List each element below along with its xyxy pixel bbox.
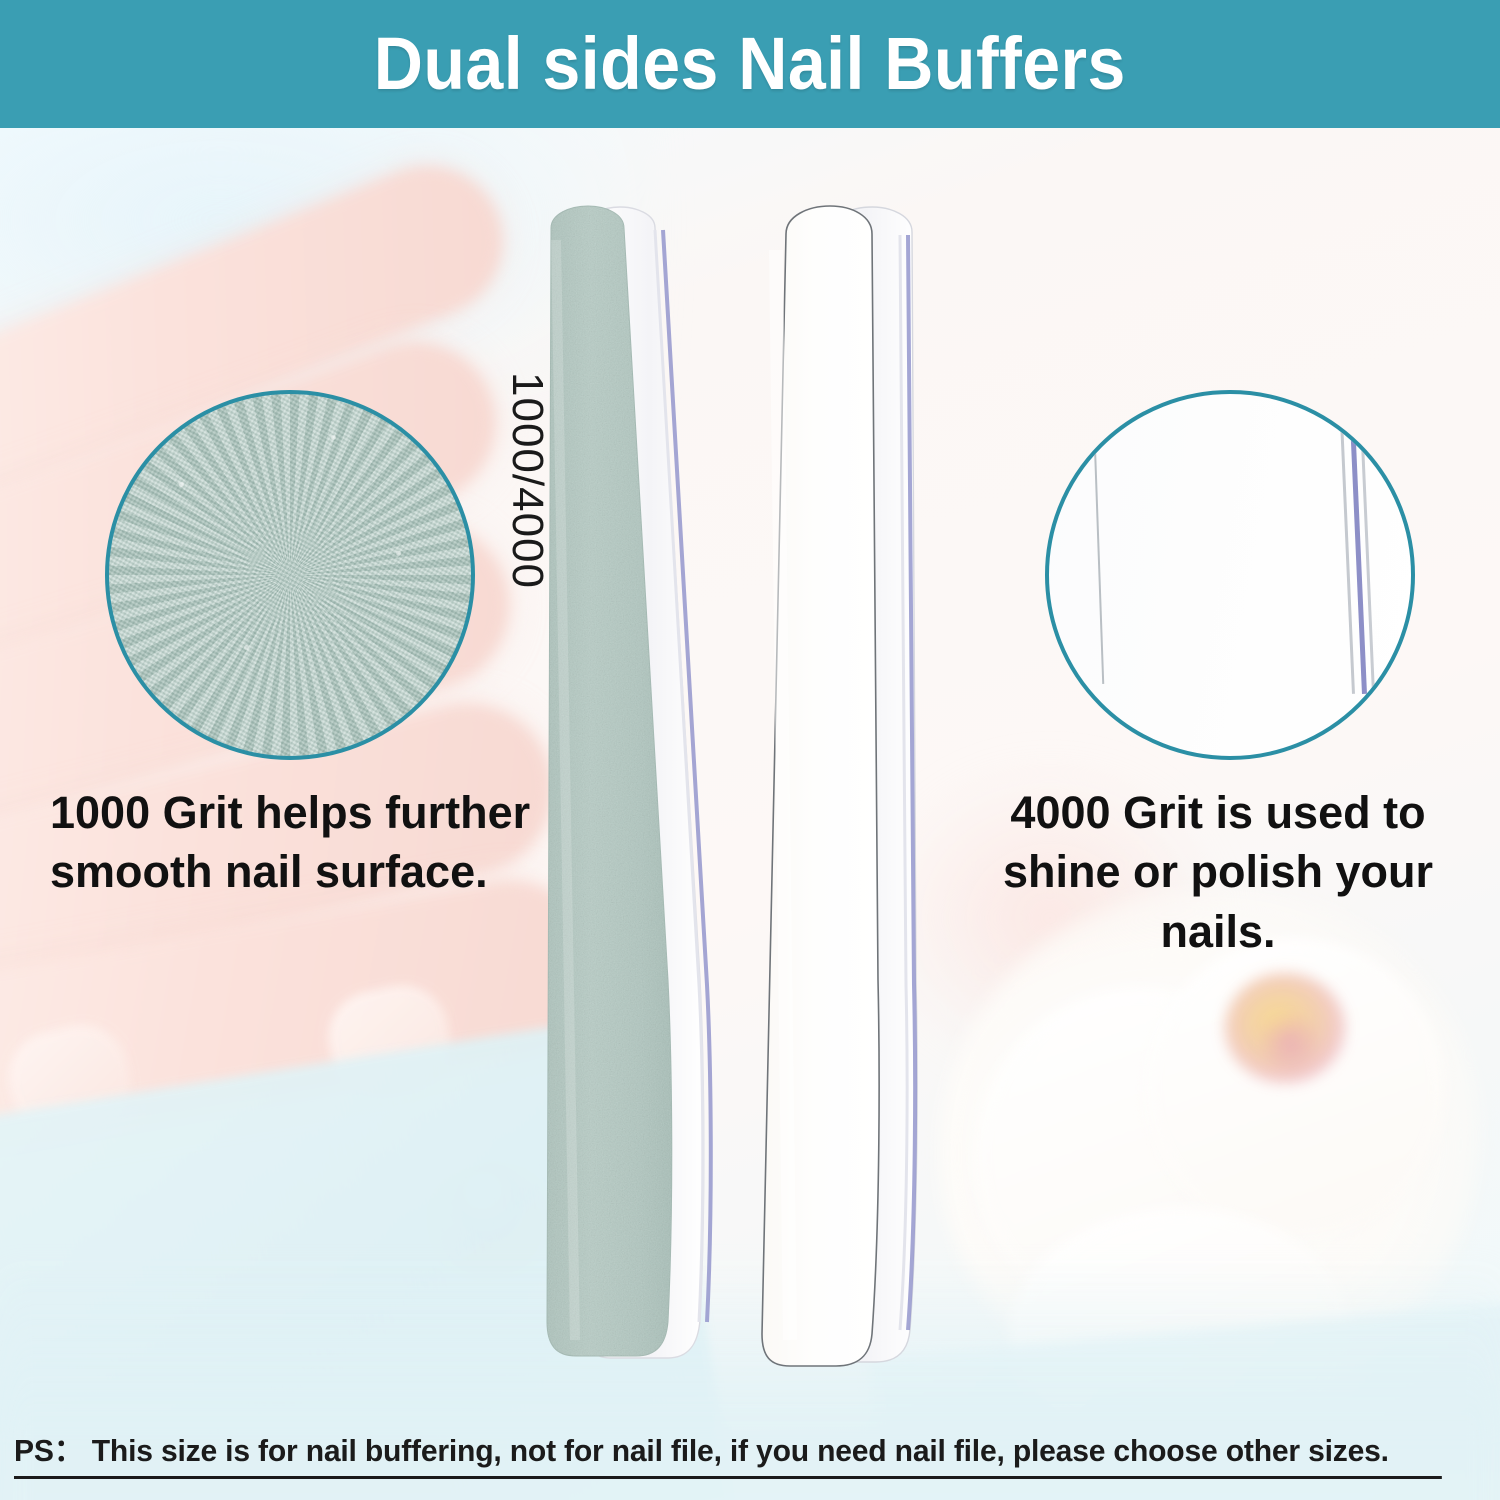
footer-note-bar: PS： This size is for nail buffering, not… xyxy=(0,1432,1500,1479)
infographic-canvas: 1000/4000 1000 Grit helps further smooth… xyxy=(0,0,1500,1500)
footer-note-text: PS： This size is for nail buffering, not… xyxy=(14,1432,1442,1479)
buffer-grit-label: 1000/4000 xyxy=(502,372,552,589)
orchid-center-accent xyxy=(1255,1008,1325,1078)
caption-4000-grit: 4000 Grit is used to shine or polish you… xyxy=(948,783,1488,961)
page-title: Dual sides Nail Buffers xyxy=(374,27,1126,101)
zoom-circle-4000-grit xyxy=(1045,390,1415,760)
caption-1000-grit: 1000 Grit helps further smooth nail surf… xyxy=(50,783,550,902)
header-bar: Dual sides Nail Buffers xyxy=(0,0,1500,128)
zoom-circle-1000-grit xyxy=(105,390,475,760)
